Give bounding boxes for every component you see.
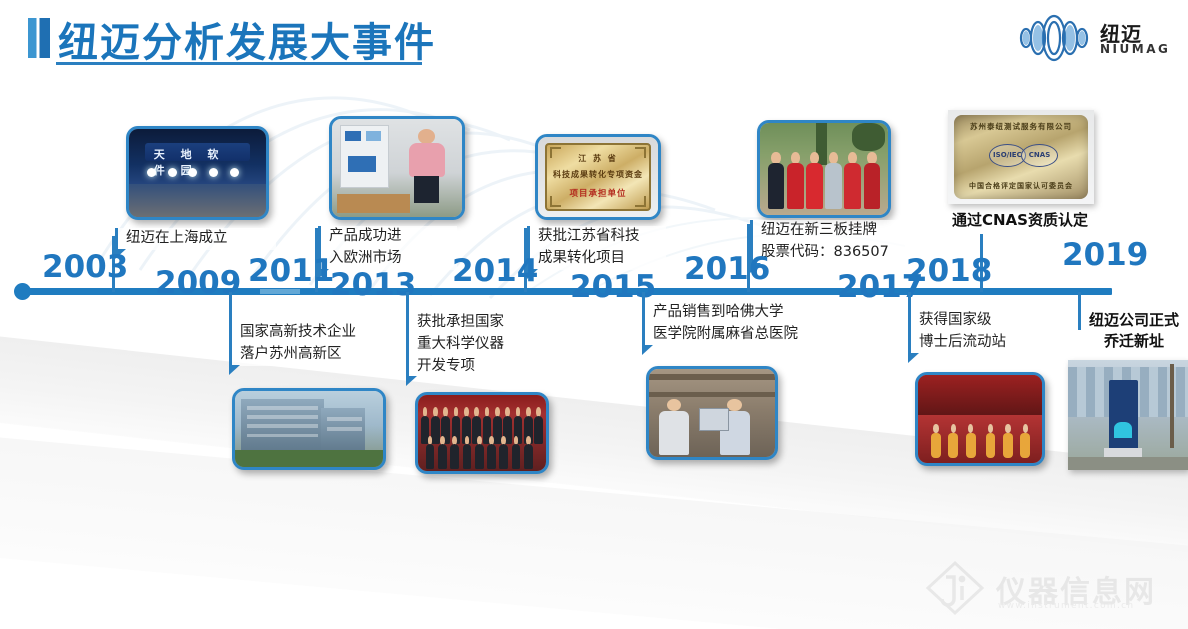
event-photo-2009: [232, 388, 386, 470]
slide-header: 纽迈分析发展大事件: [0, 0, 1188, 78]
event-year-2018: 2018: [906, 256, 992, 287]
event-photo-2019: [1068, 360, 1188, 470]
event-photo-2018: 苏州泰纽测试服务有限公司 ISO/IEC CNAS 中国合格评定国家认可委员会: [948, 110, 1094, 204]
event-caption-2018: 通过CNAS资质认定: [930, 210, 1110, 231]
event-photo-2003: 天 地 软 件 园: [126, 126, 269, 220]
event-caption-2013: 获批承担国家 重大科学仪器 开发专项: [406, 312, 539, 377]
plaque-badge-cnas-2018: CNAS: [1022, 145, 1057, 166]
event-photo-2015: [646, 366, 778, 460]
plaque-line-2-2018: 中国合格评定国家认可委员会: [948, 181, 1094, 191]
event-caption-2017: 获得国家级 博士后流动站: [908, 310, 1041, 354]
event-photo-2016: [757, 120, 891, 218]
event-caption-2003: 纽迈在上海成立: [115, 228, 276, 250]
event-caption-2014: 获批江苏省科技 成果转化项目: [527, 226, 666, 270]
event-photo-2017: [915, 372, 1045, 466]
company-logo: 纽迈 NIUMAG: [1014, 12, 1174, 66]
event-caption-2015: 产品销售到哈佛大学 医学院附属麻省总医院: [642, 302, 831, 346]
plaque-line-3-2014: 项目承担单位: [538, 187, 658, 199]
event-photo-2011: [329, 116, 465, 220]
event-year-2016: 2016: [684, 254, 770, 285]
event-year-2019: 2019: [1062, 240, 1148, 271]
event-year-2011: 2011: [248, 256, 334, 287]
plaque-line-1-2014: 江 苏 省: [538, 153, 658, 164]
watermark-diamond-icon: [924, 559, 986, 617]
title-bar-marker: [28, 18, 50, 58]
slide-canvas: 纽迈分析发展大事件 纽迈 NIUMAG: [0, 0, 1188, 629]
event-year-2003: 2003: [42, 252, 128, 283]
event-photo-2013: [415, 392, 549, 474]
logo-text-en: NIUMAG: [1100, 42, 1170, 56]
site-watermark: 仪器信息网 www.instrument.com.cn: [924, 559, 1174, 621]
plaque-badge-iso-2018: ISO/IEC: [990, 145, 1025, 166]
event-caption-2019: 纽迈公司正式 乔迁新址: [1080, 310, 1188, 352]
plaque-line-1-2018: 苏州泰纽测试服务有限公司: [948, 121, 1094, 132]
niumag-wave-icon: [1014, 12, 1094, 64]
event-photo-2014: 江 苏 省 科技成果转化专项资金 项目承担单位: [535, 134, 661, 220]
title-underline: [56, 62, 422, 65]
event-caption-2009: 国家高新技术企业 落户苏州高新区: [229, 322, 392, 366]
event-year-2014: 2014: [452, 256, 538, 287]
watermark-url: www.instrument.com.cn: [998, 601, 1134, 611]
event-year-2013: 2013: [330, 270, 416, 301]
timeline-axis-highlight: [260, 289, 300, 294]
event-caption-2011: 产品成功进 入欧洲市场: [318, 226, 457, 270]
plaque-line-2-2014: 科技成果转化专项资金: [538, 169, 658, 180]
page-title: 纽迈分析发展大事件: [58, 10, 436, 68]
